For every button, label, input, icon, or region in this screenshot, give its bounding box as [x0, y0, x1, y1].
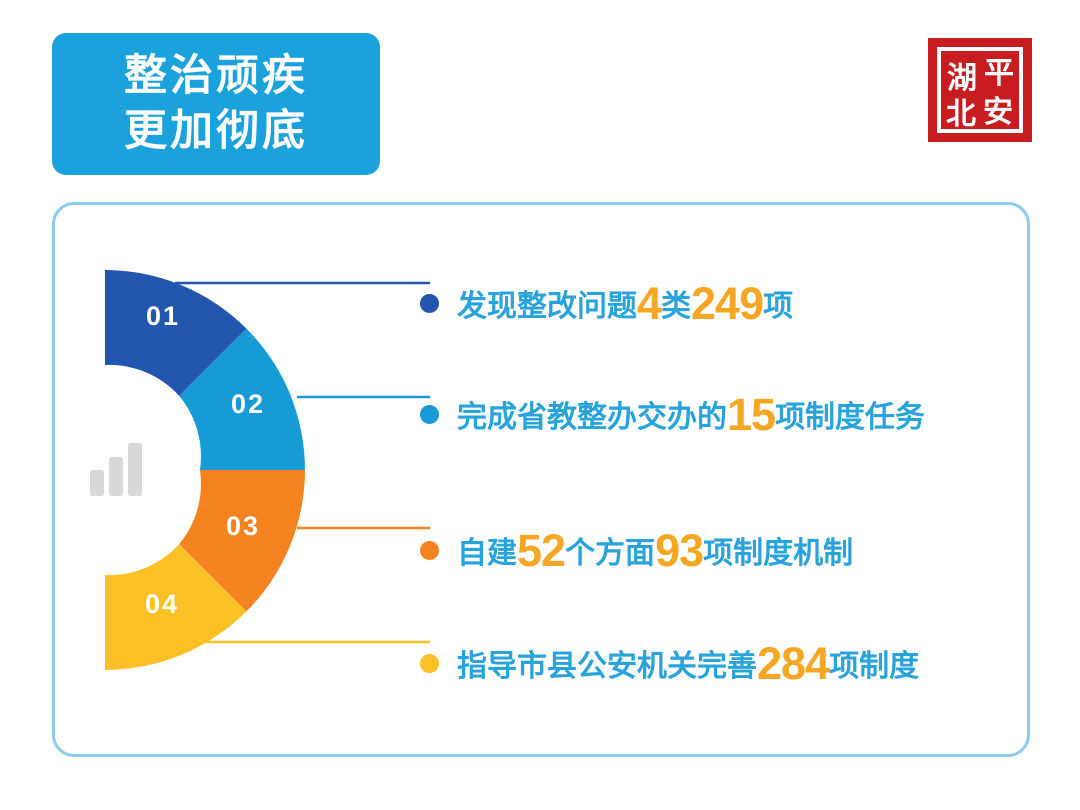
text-part: 项制度机制: [703, 537, 853, 570]
page-title-line-2: 更加彻底: [124, 104, 308, 159]
number-value: 93: [655, 525, 703, 576]
bar-chart-icon: [88, 440, 148, 498]
red-seal-stamp: 平 湖 安 北: [928, 38, 1032, 142]
bullet-icon-03: [420, 541, 439, 560]
bar-chart-icon-svg: [88, 440, 148, 498]
donut-label-01: 01: [146, 301, 180, 331]
list-item-text-04: 指导市县公安机关完善284项制度: [457, 641, 919, 686]
number-value: 52: [517, 525, 565, 576]
seal-char-3: 安: [983, 96, 1013, 129]
seal-char-1: 平: [984, 57, 1014, 90]
bullet-icon-01: [420, 294, 439, 313]
bullet-icon-02: [420, 405, 439, 424]
text-part: 完成省教整办交办的: [457, 401, 727, 434]
number-value: 284: [757, 638, 829, 689]
donut-label-02: 02: [231, 389, 265, 419]
text-part: 类: [661, 290, 691, 323]
list-item-03[interactable]: 自建52个方面93项制度机制: [420, 528, 853, 573]
text-part: 项制度任务: [775, 401, 925, 434]
text-part: 个方面: [565, 537, 655, 570]
text-part: 发现整改问题: [457, 290, 637, 323]
text-part: 项: [763, 290, 793, 323]
bullet-icon-04: [420, 654, 439, 673]
text-part: 项制度: [829, 650, 919, 683]
list-item-text-03: 自建52个方面93项制度机制: [457, 528, 853, 573]
list-item-01[interactable]: 发现整改问题4类249项: [420, 281, 793, 326]
number-value: 15: [727, 389, 775, 440]
half-donut-chart: 01 02 03 04: [0, 215, 430, 675]
donut-label-04: 04: [145, 589, 179, 619]
page-title-line-1: 整治顽疾: [124, 49, 308, 104]
text-part: 自建: [457, 537, 517, 570]
seal-char-2: 湖: [947, 62, 977, 95]
donut-svg: 01 02 03 04: [0, 215, 430, 675]
list-item-04[interactable]: 指导市县公安机关完善284项制度: [420, 641, 919, 686]
seal-svg: 平 湖 安 北: [928, 38, 1032, 142]
number-value: 4: [637, 278, 661, 329]
title-banner: 整治顽疾 更加彻底: [52, 33, 380, 175]
seal-char-4: 北: [946, 98, 976, 131]
list-item-text-01: 发现整改问题4类249项: [457, 281, 793, 326]
text-part: 指导市县公安机关完善: [457, 650, 757, 683]
donut-label-03: 03: [226, 511, 260, 541]
list-item-text-02: 完成省教整办交办的15项制度任务: [457, 392, 925, 437]
number-value: 249: [691, 278, 763, 329]
list-item-02[interactable]: 完成省教整办交办的15项制度任务: [420, 392, 925, 437]
